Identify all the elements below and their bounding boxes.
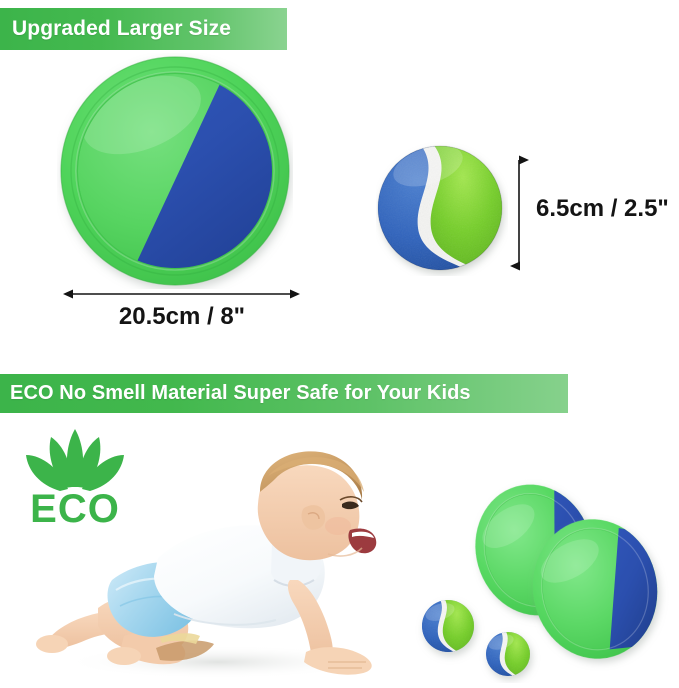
product-cluster-svg [408, 478, 679, 683]
eco-badge: ECO [14, 427, 136, 535]
ball-large-illustration [376, 142, 508, 276]
product-cluster-illustration [408, 478, 679, 683]
eco-wordmark: ECO [14, 487, 136, 531]
ball-large-svg [376, 142, 508, 276]
ball-cluster-right [486, 630, 534, 681]
banner-upgraded-size: Upgraded Larger Size [0, 8, 287, 50]
banner-eco-material: ECO No Smell Material Super Safe for You… [0, 374, 568, 413]
height-arrow-icon [508, 148, 538, 278]
eco-leaves-icon [22, 427, 128, 493]
paddle-large-illustration [57, 53, 293, 289]
paddle-large-svg [57, 53, 293, 289]
banner-upgraded-size-label: Upgraded Larger Size [12, 17, 231, 41]
banner-eco-material-label: ECO No Smell Material Super Safe for You… [10, 382, 471, 405]
paddle-width-label: 20.5cm / 8" [62, 303, 302, 331]
ball-cluster-left [422, 598, 478, 658]
dimension-paddle-width: 20.5cm / 8" [62, 286, 302, 340]
ball-diameter-label: 6.5cm / 2.5" [536, 195, 669, 223]
dimension-ball-diameter: 6.5cm / 2.5" [508, 148, 676, 278]
